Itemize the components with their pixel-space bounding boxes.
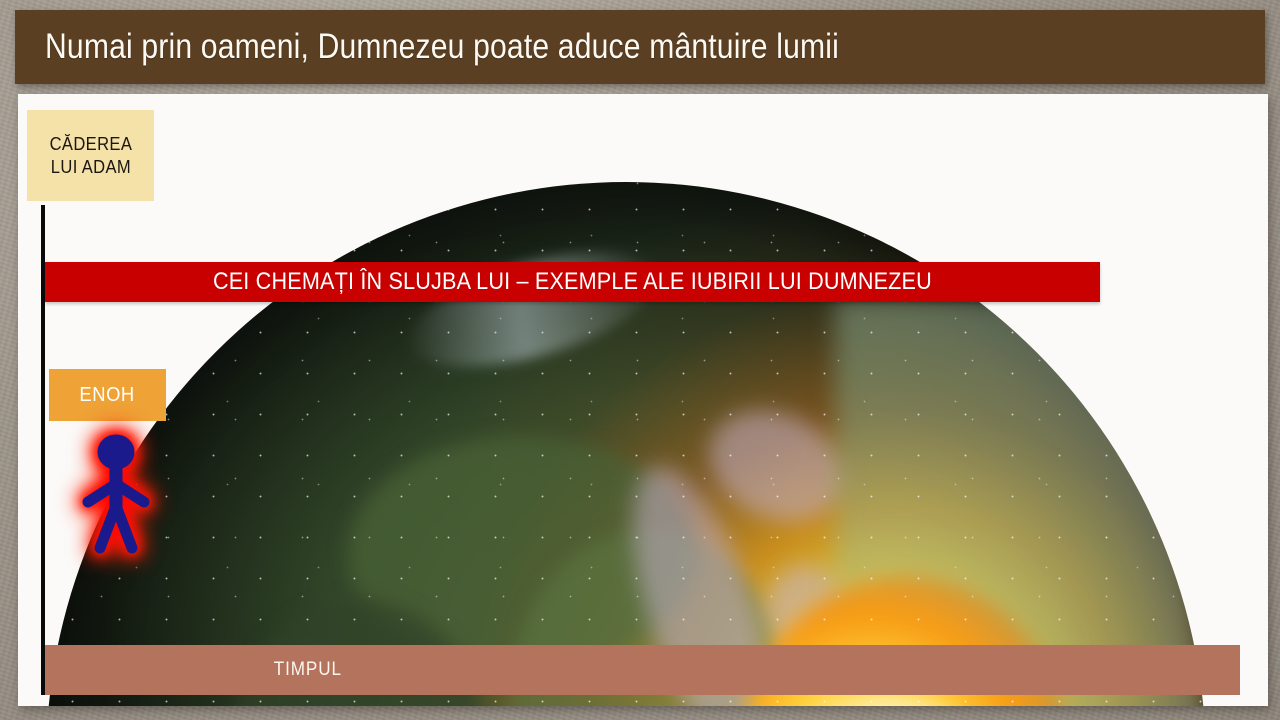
section-banner-text: CEI CHEMAȚI ÎN SLUJBA LUI – EXEMPLE ALE …	[213, 268, 932, 296]
slide-title: Numai prin oameni, Dumnezeu poate aduce …	[45, 27, 839, 67]
timeline-marker-caderea-lui-adam[interactable]: CĂDEREA LUI ADAM	[27, 110, 154, 201]
timeline-marker-enoh[interactable]: ENOH	[49, 369, 166, 421]
enoh-person-figure-icon	[80, 432, 152, 554]
earth-globe-icon	[46, 182, 1206, 706]
slide-title-bar: Numai prin oameni, Dumnezeu poate aduce …	[15, 10, 1265, 84]
section-banner: CEI CHEMAȚI ÎN SLUJBA LUI – EXEMPLE ALE …	[45, 262, 1100, 302]
marker-label-line2: LUI ADAM	[49, 156, 132, 179]
marker-label-enoh: ENOH	[80, 383, 135, 408]
timeline-axis-line-overlay	[41, 645, 45, 695]
timeline-time-bar: TIMPUL	[45, 645, 1240, 695]
globe-illustration	[18, 94, 1268, 706]
slide-content-area: CĂDEREA LUI ADAM CEI CHEMAȚI ÎN SLUJBA L…	[18, 94, 1268, 706]
timeline-time-label: TIMPUL	[274, 659, 342, 681]
marker-label-line1: CĂDEREA	[49, 133, 132, 156]
